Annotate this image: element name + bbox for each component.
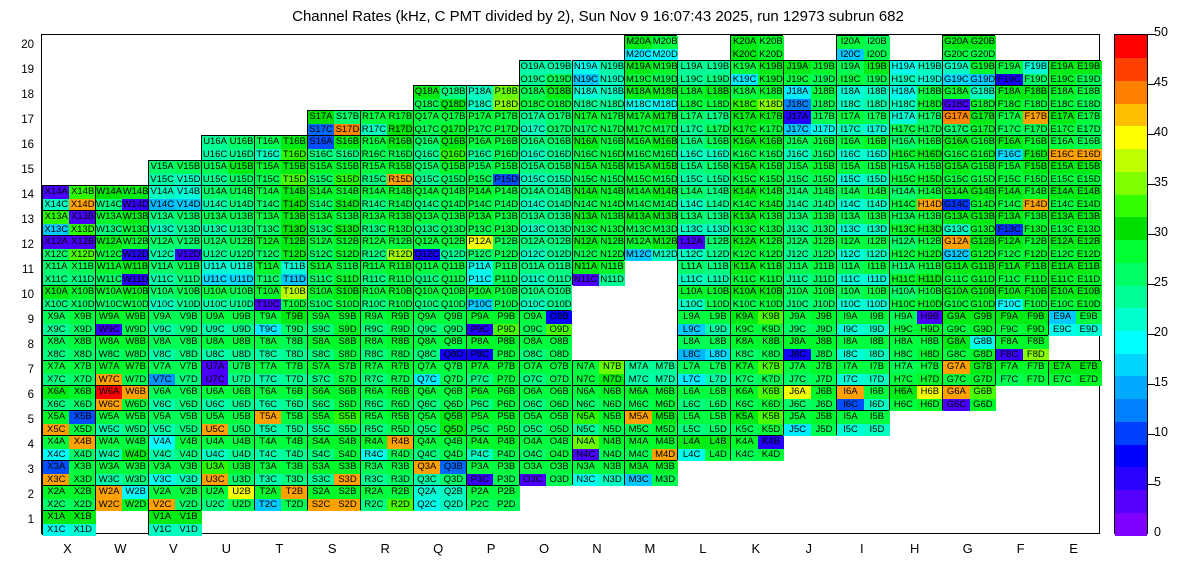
heatmap-quadrant[interactable]: L13B bbox=[705, 211, 731, 224]
heatmap-quadrant[interactable]: L13A bbox=[678, 211, 704, 224]
heatmap-cell[interactable]: J9AJ9BJ9CJ9D bbox=[783, 310, 836, 335]
heatmap-cell[interactable]: E17AE17BE17CE17D bbox=[1048, 110, 1101, 135]
heatmap-quadrant[interactable]: E7C bbox=[1049, 374, 1075, 387]
heatmap-quadrant[interactable]: G18B bbox=[970, 86, 996, 99]
heatmap-quadrant[interactable]: V15B bbox=[175, 161, 201, 174]
heatmap-quadrant[interactable]: P4A bbox=[467, 436, 493, 449]
heatmap-quadrant[interactable]: S4B bbox=[334, 436, 360, 449]
heatmap-quadrant[interactable]: F19B bbox=[1023, 61, 1049, 74]
heatmap-quadrant[interactable]: K16A bbox=[731, 136, 757, 149]
heatmap-quadrant[interactable]: Q2C bbox=[414, 499, 440, 512]
heatmap-quadrant[interactable]: R12A bbox=[361, 236, 387, 249]
heatmap-cell[interactable]: T10AT10BT10CT10D bbox=[254, 285, 307, 310]
heatmap-cell[interactable]: G10AG10BG10CG10D bbox=[942, 285, 995, 310]
heatmap-cell[interactable]: I9AI9BI9CI9D bbox=[836, 310, 889, 335]
heatmap-quadrant[interactable]: V5B bbox=[175, 411, 201, 424]
heatmap-quadrant[interactable]: P16B bbox=[493, 136, 519, 149]
heatmap-quadrant[interactable]: S3A bbox=[308, 461, 334, 474]
heatmap-quadrant[interactable]: O4A bbox=[520, 436, 546, 449]
heatmap-quadrant[interactable]: I6A bbox=[837, 386, 863, 399]
heatmap-quadrant[interactable]: M18A bbox=[625, 86, 651, 99]
heatmap-quadrant[interactable]: N3D bbox=[599, 474, 625, 487]
heatmap-quadrant[interactable]: X1A bbox=[43, 511, 69, 524]
heatmap-quadrant[interactable]: V15A bbox=[149, 161, 175, 174]
heatmap-quadrant[interactable]: N11A bbox=[573, 261, 599, 274]
heatmap-quadrant[interactable]: N6B bbox=[599, 386, 625, 399]
heatmap-quadrant[interactable]: W10B bbox=[122, 286, 148, 299]
heatmap-quadrant[interactable]: M13A bbox=[625, 211, 651, 224]
heatmap-quadrant[interactable]: R17B bbox=[387, 111, 413, 124]
heatmap-quadrant[interactable]: G11B bbox=[970, 261, 996, 274]
heatmap-quadrant[interactable]: J5C bbox=[784, 424, 810, 437]
heatmap-cell[interactable]: E16AE16BE16CE16D bbox=[1048, 135, 1101, 160]
heatmap-quadrant[interactable]: V9A bbox=[149, 311, 175, 324]
heatmap-quadrant[interactable]: V11B bbox=[175, 261, 201, 274]
heatmap-quadrant[interactable]: H7B bbox=[917, 361, 943, 374]
heatmap-quadrant[interactable]: O16B bbox=[546, 136, 572, 149]
heatmap-quadrant[interactable]: I5C bbox=[837, 424, 863, 437]
heatmap-quadrant[interactable]: S6A bbox=[308, 386, 334, 399]
heatmap-quadrant[interactable]: U13A bbox=[202, 211, 228, 224]
heatmap-quadrant[interactable]: T6A bbox=[255, 386, 281, 399]
heatmap-cell[interactable]: N15AN15BN15CN15D bbox=[572, 160, 625, 185]
heatmap-quadrant[interactable]: X14B bbox=[69, 186, 95, 199]
heatmap-quadrant[interactable]: G10B bbox=[970, 286, 996, 299]
heatmap-cell[interactable]: X12AX12BX12CX12D bbox=[42, 235, 95, 260]
heatmap-quadrant[interactable]: F14B bbox=[1023, 186, 1049, 199]
heatmap-cell[interactable]: J14AJ14BJ14CJ14D bbox=[783, 185, 836, 210]
heatmap-quadrant[interactable]: V5A bbox=[149, 411, 175, 424]
heatmap-quadrant[interactable]: F12A bbox=[996, 236, 1022, 249]
heatmap-quadrant[interactable]: Q7B bbox=[440, 361, 466, 374]
heatmap-quadrant[interactable]: I19A bbox=[837, 61, 863, 74]
heatmap-quadrant[interactable]: T7A bbox=[255, 361, 281, 374]
heatmap-quadrant[interactable]: Q2A bbox=[414, 486, 440, 499]
heatmap-quadrant[interactable]: T2A bbox=[255, 486, 281, 499]
heatmap-cell[interactable]: G14AG14BG14CG14D bbox=[942, 185, 995, 210]
heatmap-quadrant[interactable]: W2D bbox=[122, 499, 148, 512]
heatmap-quadrant[interactable]: H12B bbox=[917, 236, 943, 249]
heatmap-cell[interactable]: M16AM16BM16CM16D bbox=[624, 135, 677, 160]
heatmap-quadrant[interactable]: P15A bbox=[467, 161, 493, 174]
heatmap-quadrant[interactable]: V13A bbox=[149, 211, 175, 224]
heatmap-cell[interactable]: R2AR2BR2CR2D bbox=[360, 485, 413, 510]
heatmap-quadrant[interactable]: N14A bbox=[573, 186, 599, 199]
heatmap-quadrant[interactable]: O13A bbox=[520, 211, 546, 224]
heatmap-quadrant[interactable]: G6B bbox=[970, 386, 996, 399]
heatmap-cell[interactable]: K7AK7BK7CK7D bbox=[730, 360, 783, 385]
heatmap-quadrant[interactable]: E9A bbox=[1049, 311, 1075, 324]
heatmap-quadrant[interactable]: I11A bbox=[837, 261, 863, 274]
heatmap-quadrant[interactable]: N4B bbox=[599, 436, 625, 449]
heatmap-cell[interactable]: P5AP5BP5CP5D bbox=[466, 410, 519, 435]
heatmap-quadrant[interactable]: Q13A bbox=[414, 211, 440, 224]
heatmap-cell[interactable]: X7AX7BX7CX7D bbox=[42, 360, 95, 385]
heatmap-quadrant[interactable]: Q6A bbox=[414, 386, 440, 399]
heatmap-cell[interactable]: G9AG9BG9CG9D bbox=[942, 310, 995, 335]
heatmap-quadrant[interactable]: G8A bbox=[943, 336, 969, 349]
heatmap-cell[interactable]: P4AP4BP4CP4D bbox=[466, 435, 519, 460]
heatmap-quadrant[interactable]: I16A bbox=[837, 136, 863, 149]
heatmap-quadrant[interactable]: I5D bbox=[864, 424, 890, 437]
heatmap-quadrant[interactable]: M18B bbox=[652, 86, 678, 99]
heatmap-quadrant[interactable]: X13A bbox=[43, 211, 69, 224]
heatmap-quadrant[interactable]: P10B bbox=[493, 286, 519, 299]
heatmap-quadrant[interactable]: J19B bbox=[811, 61, 837, 74]
heatmap-quadrant[interactable]: M14A bbox=[625, 186, 651, 199]
heatmap-quadrant[interactable]: W10A bbox=[96, 286, 122, 299]
heatmap-quadrant[interactable]: R13A bbox=[361, 211, 387, 224]
heatmap-cell[interactable]: O3AO3BO3CO3D bbox=[519, 460, 572, 485]
heatmap-cell[interactable]: L4AL4BL4CL4D bbox=[677, 435, 730, 460]
heatmap-quadrant[interactable]: G20A bbox=[943, 36, 969, 49]
heatmap-quadrant[interactable]: W12A bbox=[96, 236, 122, 249]
heatmap-cell[interactable]: I8AI8BI8CI8D bbox=[836, 335, 889, 360]
heatmap-cell[interactable]: W2AW2BW2CW2D bbox=[95, 485, 148, 510]
heatmap-quadrant[interactable]: K13B bbox=[758, 211, 784, 224]
heatmap-quadrant[interactable]: L8B bbox=[705, 336, 731, 349]
heatmap-cell[interactable]: O11AO11BO11CO11D bbox=[519, 260, 572, 285]
heatmap-quadrant[interactable]: I9A bbox=[837, 311, 863, 324]
heatmap-quadrant[interactable]: N15A bbox=[573, 161, 599, 174]
heatmap-quadrant[interactable]: P6B bbox=[493, 386, 519, 399]
heatmap-quadrant[interactable]: J14B bbox=[811, 186, 837, 199]
heatmap-quadrant[interactable]: L19A bbox=[678, 61, 704, 74]
heatmap-quadrant[interactable]: R8B bbox=[387, 336, 413, 349]
heatmap-quadrant[interactable]: O15A bbox=[520, 161, 546, 174]
heatmap-cell[interactable]: Q5AQ5BQ5CQ5D bbox=[413, 410, 466, 435]
heatmap-quadrant[interactable]: E10A bbox=[1049, 286, 1075, 299]
heatmap-quadrant[interactable]: Q17B bbox=[440, 111, 466, 124]
heatmap-quadrant[interactable]: P5B bbox=[493, 411, 519, 424]
heatmap-quadrant[interactable]: H11B bbox=[917, 261, 943, 274]
heatmap-quadrant[interactable]: E12A bbox=[1049, 236, 1075, 249]
heatmap-quadrant[interactable]: P17B bbox=[493, 111, 519, 124]
heatmap-quadrant[interactable]: T16A bbox=[255, 136, 281, 149]
heatmap-quadrant[interactable]: M15A bbox=[625, 161, 651, 174]
heatmap-quadrant[interactable]: I7A bbox=[837, 361, 863, 374]
heatmap-quadrant[interactable]: W2C bbox=[96, 499, 122, 512]
heatmap-quadrant[interactable]: R11B bbox=[387, 261, 413, 274]
heatmap-quadrant[interactable]: V6A bbox=[149, 386, 175, 399]
heatmap-quadrant[interactable]: M17A bbox=[625, 111, 651, 124]
heatmap-cell[interactable]: N16AN16BN16CN16D bbox=[572, 135, 625, 160]
heatmap-quadrant[interactable]: U3A bbox=[202, 461, 228, 474]
heatmap-quadrant[interactable]: J16A bbox=[784, 136, 810, 149]
heatmap-quadrant[interactable]: M16B bbox=[652, 136, 678, 149]
heatmap-cell[interactable]: J13AJ13BJ13CJ13D bbox=[783, 210, 836, 235]
heatmap-quadrant[interactable]: R11A bbox=[361, 261, 387, 274]
heatmap-quadrant[interactable]: Q3B bbox=[440, 461, 466, 474]
heatmap-quadrant[interactable]: V8A bbox=[149, 336, 175, 349]
heatmap-quadrant[interactable]: G14A bbox=[943, 186, 969, 199]
heatmap-cell[interactable]: N17AN17BN17CN17D bbox=[572, 110, 625, 135]
heatmap-quadrant[interactable]: U9B bbox=[228, 311, 254, 324]
heatmap-quadrant[interactable]: N15B bbox=[599, 161, 625, 174]
heatmap-quadrant[interactable]: P14A bbox=[467, 186, 493, 199]
heatmap-cell[interactable]: V4AV4BV4CV4D bbox=[148, 435, 201, 460]
heatmap-quadrant[interactable]: S8B bbox=[334, 336, 360, 349]
heatmap-cell[interactable]: P18AP18BP18CP18D bbox=[466, 85, 519, 110]
heatmap-quadrant[interactable]: W14A bbox=[96, 186, 122, 199]
heatmap-quadrant[interactable]: H17B bbox=[917, 111, 943, 124]
heatmap-quadrant[interactable]: I9B bbox=[864, 311, 890, 324]
heatmap-quadrant[interactable]: T3A bbox=[255, 461, 281, 474]
heatmap-cell[interactable]: X10AX10BX10CX10D bbox=[42, 285, 95, 310]
heatmap-quadrant[interactable]: W12B bbox=[122, 236, 148, 249]
heatmap-quadrant[interactable]: R14B bbox=[387, 186, 413, 199]
heatmap-cell[interactable]: H11AH11BH11CH11D bbox=[889, 260, 942, 285]
heatmap-quadrant[interactable]: M3A bbox=[625, 461, 651, 474]
heatmap-quadrant[interactable]: O3C bbox=[520, 474, 546, 487]
heatmap-quadrant[interactable]: R6B bbox=[387, 386, 413, 399]
heatmap-quadrant[interactable]: F7C bbox=[996, 374, 1022, 387]
heatmap-cell[interactable]: N11AN11BN11CN11D bbox=[572, 260, 625, 285]
heatmap-quadrant[interactable]: U7B bbox=[228, 361, 254, 374]
heatmap-quadrant[interactable]: P2A bbox=[467, 486, 493, 499]
heatmap-quadrant[interactable]: P11A bbox=[467, 261, 493, 274]
heatmap-quadrant[interactable]: U15B bbox=[228, 161, 254, 174]
heatmap-quadrant[interactable]: U16B bbox=[228, 136, 254, 149]
heatmap-quadrant[interactable]: N17A bbox=[573, 111, 599, 124]
heatmap-quadrant[interactable]: P9A bbox=[467, 311, 493, 324]
heatmap-quadrant[interactable]: K5A bbox=[731, 411, 757, 424]
heatmap-quadrant[interactable]: X5A bbox=[43, 411, 69, 424]
heatmap-quadrant[interactable]: S15B bbox=[334, 161, 360, 174]
heatmap-cell[interactable]: U11AU11BU11CU11D bbox=[201, 260, 254, 285]
heatmap-cell[interactable]: V2AV2BV2CV2D bbox=[148, 485, 201, 510]
heatmap-cell[interactable]: N5AN5BN5CN5D bbox=[572, 410, 625, 435]
heatmap-quadrant[interactable]: G13B bbox=[970, 211, 996, 224]
heatmap-cell[interactable]: G11AG11BG11CG11D bbox=[942, 260, 995, 285]
heatmap-cell[interactable]: G20AG20BG20CG20D bbox=[942, 35, 995, 60]
heatmap-quadrant[interactable]: U2B bbox=[228, 486, 254, 499]
heatmap-quadrant[interactable]: N7A bbox=[573, 361, 599, 374]
heatmap-quadrant[interactable]: M19A bbox=[625, 61, 651, 74]
heatmap-quadrant[interactable]: Q4A bbox=[414, 436, 440, 449]
heatmap-cell[interactable]: W3AW3BW3CW3D bbox=[95, 460, 148, 485]
heatmap-quadrant[interactable]: I11B bbox=[864, 261, 890, 274]
heatmap-quadrant[interactable]: N16A bbox=[573, 136, 599, 149]
heatmap-cell[interactable]: V13AV13BV13CV13D bbox=[148, 210, 201, 235]
heatmap-cell[interactable]: T5AT5BT5CT5D bbox=[254, 410, 307, 435]
heatmap-cell[interactable]: R8AR8BR8CR8D bbox=[360, 335, 413, 360]
heatmap-quadrant[interactable]: T2B bbox=[281, 486, 307, 499]
heatmap-quadrant[interactable]: L4B bbox=[705, 436, 731, 449]
heatmap-quadrant[interactable]: O5B bbox=[546, 411, 572, 424]
heatmap-quadrant[interactable]: K20B bbox=[758, 36, 784, 49]
heatmap-cell[interactable]: R16AR16BR16CR16D bbox=[360, 135, 413, 160]
heatmap-quadrant[interactable]: E11A bbox=[1049, 261, 1075, 274]
heatmap-quadrant[interactable]: N19B bbox=[599, 61, 625, 74]
heatmap-cell[interactable]: N18AN18BN18CN18D bbox=[572, 85, 625, 110]
heatmap-quadrant[interactable]: I15B bbox=[864, 161, 890, 174]
heatmap-quadrant[interactable]: X11A bbox=[43, 261, 69, 274]
heatmap-cell[interactable]: G12AG12BG12CG12D bbox=[942, 235, 995, 260]
heatmap-quadrant[interactable]: W6A bbox=[96, 386, 122, 399]
heatmap-quadrant[interactable]: I16B bbox=[864, 136, 890, 149]
heatmap-cell[interactable]: I14AI14BI14CI14D bbox=[836, 185, 889, 210]
heatmap-quadrant[interactable]: S14A bbox=[308, 186, 334, 199]
heatmap-cell[interactable]: V14AV14BV14CV14D bbox=[148, 185, 201, 210]
heatmap-quadrant[interactable]: L19B bbox=[705, 61, 731, 74]
heatmap-quadrant[interactable]: J11A bbox=[784, 261, 810, 274]
heatmap-cell[interactable]: J10AJ10BJ10CJ10D bbox=[783, 285, 836, 310]
heatmap-quadrant[interactable]: I10B bbox=[864, 286, 890, 299]
heatmap-quadrant[interactable]: L4C bbox=[678, 449, 704, 462]
heatmap-quadrant[interactable]: N18B bbox=[599, 86, 625, 99]
heatmap-quadrant[interactable]: R9A bbox=[361, 311, 387, 324]
heatmap-cell[interactable]: I5AI5BI5CI5D bbox=[836, 410, 889, 435]
heatmap-quadrant[interactable]: I14A bbox=[837, 186, 863, 199]
heatmap-quadrant[interactable]: G17A bbox=[943, 111, 969, 124]
heatmap-quadrant[interactable]: P18A bbox=[467, 86, 493, 99]
heatmap-quadrant[interactable]: L4D bbox=[705, 449, 731, 462]
heatmap-quadrant[interactable]: R3B bbox=[387, 461, 413, 474]
heatmap-quadrant[interactable]: V4A bbox=[149, 436, 175, 449]
heatmap-cell[interactable]: L14AL14BL14CL14D bbox=[677, 185, 730, 210]
heatmap-quadrant[interactable]: H12A bbox=[890, 236, 916, 249]
heatmap-quadrant[interactable]: M16A bbox=[625, 136, 651, 149]
heatmap-cell[interactable]: I7AI7BI7CI7D bbox=[836, 360, 889, 385]
heatmap-quadrant[interactable]: L12A bbox=[678, 236, 704, 249]
heatmap-quadrant[interactable]: V7A bbox=[149, 361, 175, 374]
heatmap-quadrant[interactable]: J18A bbox=[784, 86, 810, 99]
heatmap-quadrant[interactable]: G17B bbox=[970, 111, 996, 124]
heatmap-quadrant[interactable]: F7D bbox=[1023, 374, 1049, 387]
heatmap-cell[interactable]: U5AU5BU5CU5D bbox=[201, 410, 254, 435]
heatmap-quadrant[interactable]: U6B bbox=[228, 386, 254, 399]
heatmap-cell[interactable]: X11AX11BX11CX11D bbox=[42, 260, 95, 285]
heatmap-cell[interactable]: S7AS7BS7CS7D bbox=[307, 360, 360, 385]
heatmap-quadrant[interactable]: O8B bbox=[546, 336, 572, 349]
heatmap-quadrant[interactable]: S15A bbox=[308, 161, 334, 174]
heatmap-quadrant[interactable]: S5A bbox=[308, 411, 334, 424]
heatmap-cell[interactable]: U15AU15BU15CU15D bbox=[201, 160, 254, 185]
heatmap-cell[interactable]: G15AG15BG15CG15D bbox=[942, 160, 995, 185]
heatmap-cell[interactable]: Q12AQ12BQ12CQ12D bbox=[413, 235, 466, 260]
heatmap-cell[interactable]: T11AT11BT11CT11D bbox=[254, 260, 307, 285]
heatmap-cell[interactable]: S9AS9BS9CS9D bbox=[307, 310, 360, 335]
heatmap-quadrant[interactable]: F18B bbox=[1023, 86, 1049, 99]
heatmap-cell[interactable]: X6AX6BX6CX6D bbox=[42, 385, 95, 410]
heatmap-quadrant[interactable]: L5A bbox=[678, 411, 704, 424]
heatmap-cell[interactable]: F11AF11BF11CF11D bbox=[995, 260, 1048, 285]
heatmap-cell[interactable]: X2AX2BX2CX2D bbox=[42, 485, 95, 510]
heatmap-cell[interactable]: R6AR6BR6CR6D bbox=[360, 385, 413, 410]
heatmap-quadrant[interactable]: I8A bbox=[837, 336, 863, 349]
heatmap-quadrant[interactable]: S5B bbox=[334, 411, 360, 424]
heatmap-cell[interactable]: S4AS4BS4CS4D bbox=[307, 435, 360, 460]
heatmap-quadrant[interactable]: P14B bbox=[493, 186, 519, 199]
heatmap-quadrant[interactable]: W4A bbox=[96, 436, 122, 449]
heatmap-quadrant[interactable]: P10A bbox=[467, 286, 493, 299]
heatmap-quadrant[interactable]: T11A bbox=[255, 261, 281, 274]
heatmap-quadrant[interactable]: P16A bbox=[467, 136, 493, 149]
heatmap-quadrant[interactable]: V1A bbox=[149, 511, 175, 524]
heatmap-cell[interactable]: T16AT16BT16CT16D bbox=[254, 135, 307, 160]
heatmap-cell[interactable]: W7AW7BW7CW7D bbox=[95, 360, 148, 385]
heatmap-cell[interactable]: Q11AQ11BQ11CQ11D bbox=[413, 260, 466, 285]
heatmap-quadrant[interactable]: M7A bbox=[625, 361, 651, 374]
heatmap-cell[interactable]: P16AP16BP16CP16D bbox=[466, 135, 519, 160]
heatmap-quadrant[interactable]: G14B bbox=[970, 186, 996, 199]
heatmap-cell[interactable]: I16AI16BI16CI16D bbox=[836, 135, 889, 160]
heatmap-cell[interactable]: J11AJ11BJ11CJ11D bbox=[783, 260, 836, 285]
heatmap-quadrant[interactable]: R5B bbox=[387, 411, 413, 424]
heatmap-quadrant[interactable]: X11B bbox=[69, 261, 95, 274]
heatmap-quadrant[interactable]: U8A bbox=[202, 336, 228, 349]
heatmap-cell[interactable]: H7AH7BH7CH7D bbox=[889, 360, 942, 385]
heatmap-quadrant[interactable]: E19B bbox=[1076, 61, 1102, 74]
heatmap-quadrant[interactable]: T11B bbox=[281, 261, 307, 274]
heatmap-quadrant[interactable]: H13A bbox=[890, 211, 916, 224]
heatmap-quadrant[interactable]: J6B bbox=[811, 386, 837, 399]
heatmap-quadrant[interactable]: O6A bbox=[520, 386, 546, 399]
heatmap-cell[interactable]: S5AS5BS5CS5D bbox=[307, 410, 360, 435]
heatmap-cell[interactable]: L8AL8BL8CL8D bbox=[677, 335, 730, 360]
heatmap-quadrant[interactable]: U5A bbox=[202, 411, 228, 424]
heatmap-cell[interactable]: E13AE13BE13CE13D bbox=[1048, 210, 1101, 235]
heatmap-quadrant[interactable]: L7B bbox=[705, 361, 731, 374]
heatmap-quadrant[interactable]: P4B bbox=[493, 436, 519, 449]
heatmap-cell[interactable]: U3AU3BU3CU3D bbox=[201, 460, 254, 485]
heatmap-cell[interactable]: T13AT13BT13CT13D bbox=[254, 210, 307, 235]
heatmap-quadrant[interactable]: Q14B bbox=[440, 186, 466, 199]
heatmap-quadrant[interactable]: F8A bbox=[996, 336, 1022, 349]
heatmap-quadrant[interactable]: F19A bbox=[996, 61, 1022, 74]
heatmap-quadrant[interactable]: T8A bbox=[255, 336, 281, 349]
heatmap-quadrant[interactable]: K8A bbox=[731, 336, 757, 349]
heatmap-quadrant[interactable]: M20B bbox=[652, 36, 678, 49]
heatmap-cell[interactable]: L11AL11BL11CL11D bbox=[677, 260, 730, 285]
heatmap-quadrant[interactable]: K20A bbox=[731, 36, 757, 49]
heatmap-quadrant[interactable]: W3A bbox=[96, 461, 122, 474]
heatmap-quadrant[interactable]: X12B bbox=[69, 236, 95, 249]
heatmap-quadrant[interactable]: X12A bbox=[43, 236, 69, 249]
heatmap-quadrant[interactable]: E7B bbox=[1076, 361, 1102, 374]
heatmap-quadrant[interactable]: M5A bbox=[625, 411, 651, 424]
heatmap-quadrant[interactable]: Q16A bbox=[414, 136, 440, 149]
heatmap-cell[interactable]: S16AS16BS16CS16D bbox=[307, 135, 360, 160]
heatmap-quadrant[interactable]: G12A bbox=[943, 236, 969, 249]
heatmap-quadrant[interactable]: E16A bbox=[1049, 136, 1075, 149]
heatmap-quadrant[interactable]: J10A bbox=[784, 286, 810, 299]
heatmap-quadrant[interactable]: E13A bbox=[1049, 211, 1075, 224]
heatmap-quadrant[interactable]: K16B bbox=[758, 136, 784, 149]
heatmap-quadrant[interactable]: P2C bbox=[467, 499, 493, 512]
heatmap-quadrant[interactable]: U16A bbox=[202, 136, 228, 149]
heatmap-cell[interactable]: O8AO8BO8CO8D bbox=[519, 335, 572, 360]
heatmap-cell[interactable]: O17AO17BO17CO17D bbox=[519, 110, 572, 135]
heatmap-quadrant[interactable]: H10B bbox=[917, 286, 943, 299]
heatmap-cell[interactable]: R9AR9BR9CR9D bbox=[360, 310, 413, 335]
heatmap-quadrant[interactable]: K15B bbox=[758, 161, 784, 174]
heatmap-quadrant[interactable]: P11B bbox=[493, 261, 519, 274]
heatmap-quadrant[interactable]: T8B bbox=[281, 336, 307, 349]
heatmap-quadrant[interactable]: U3B bbox=[228, 461, 254, 474]
heatmap-quadrant[interactable]: N11C bbox=[573, 274, 599, 287]
heatmap-quadrant[interactable]: F13B bbox=[1023, 211, 1049, 224]
heatmap-quadrant[interactable]: Q8B bbox=[440, 336, 466, 349]
heatmap-quadrant[interactable]: V10A bbox=[149, 286, 175, 299]
heatmap-cell[interactable]: X13AX13BX13CX13D bbox=[42, 210, 95, 235]
heatmap-quadrant[interactable]: F9B bbox=[1023, 311, 1049, 324]
heatmap-cell[interactable]: M5AM5BM5CM5D bbox=[624, 410, 677, 435]
heatmap-cell[interactable]: W8AW8BW8CW8D bbox=[95, 335, 148, 360]
heatmap-cell[interactable]: X9AX9BX9CX9D bbox=[42, 310, 95, 335]
heatmap-quadrant[interactable]: R7A bbox=[361, 361, 387, 374]
